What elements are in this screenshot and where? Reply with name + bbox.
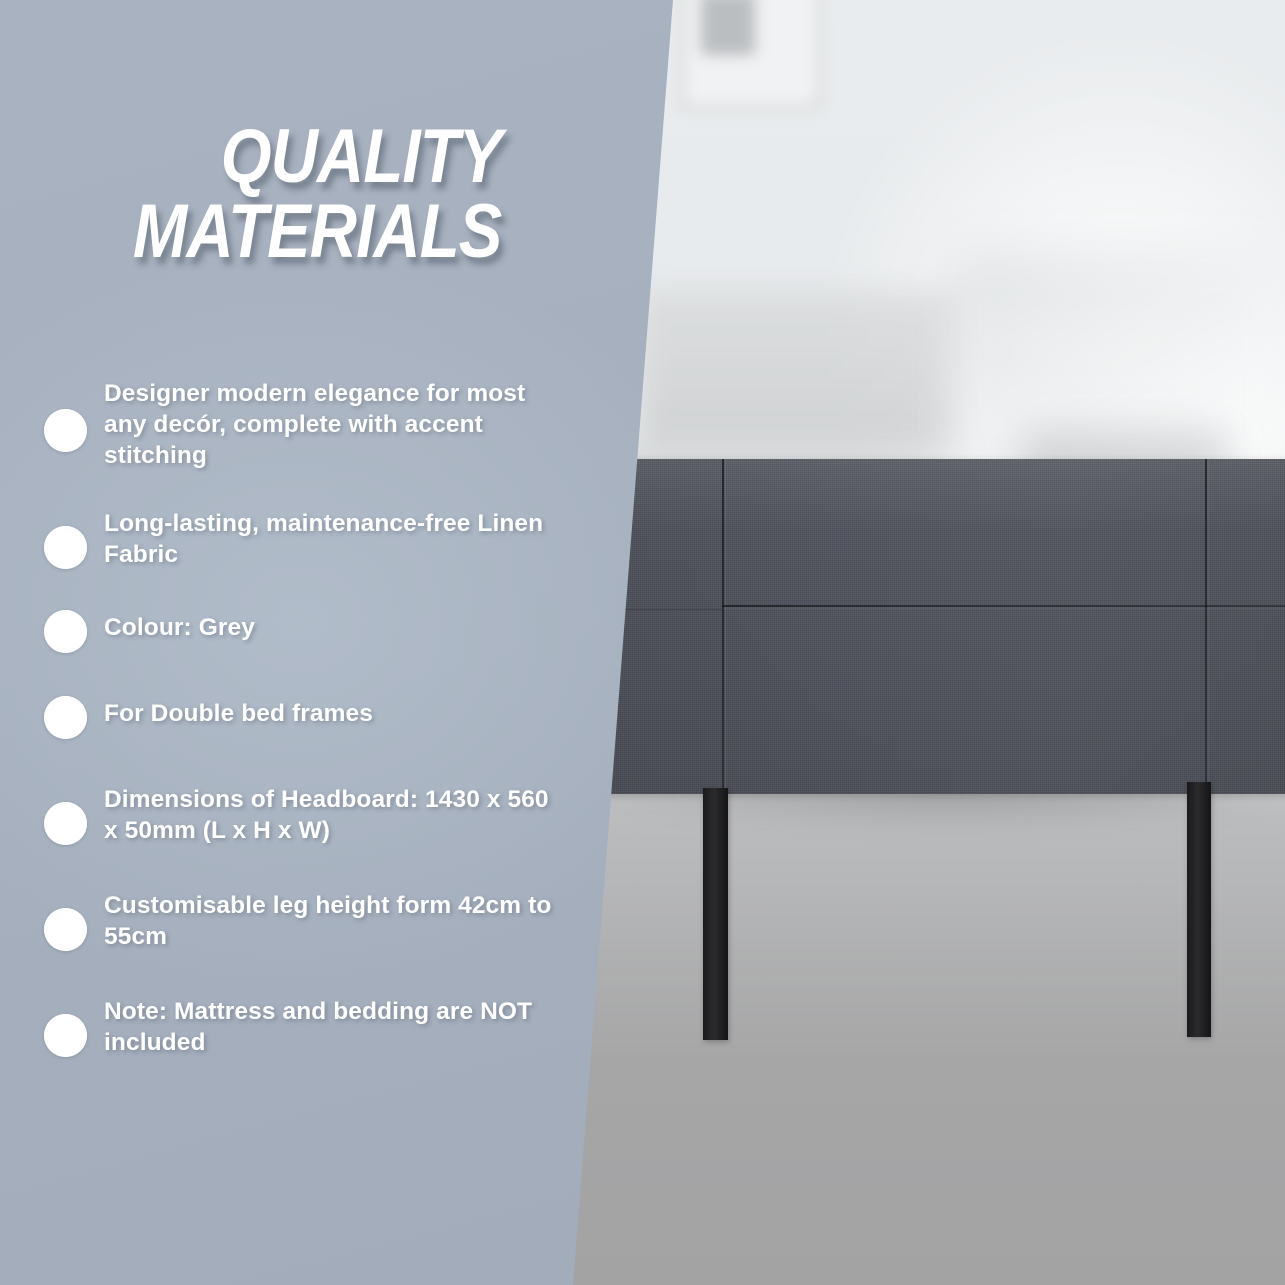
accent-stitch-vertical-2-highlight [1208,459,1209,794]
accent-stitch-vertical-2 [1205,459,1207,794]
list-item: Designer modern elegance for most any de… [44,378,554,482]
list-item: For Double bed frames [44,698,554,740]
accent-stitch-vertical-1 [722,459,724,794]
accent-stitch-horizontal [722,605,1285,607]
check-circle-icon [44,1014,87,1057]
list-item-label: Long-lasting, maintenance-free Linen Fab… [104,508,554,571]
background-console [640,290,970,450]
page-title: QUALITY MATERIALS [78,119,560,269]
list-item: Customisable leg height form 42cm to 55c… [44,890,554,968]
wall-picture-frame [678,0,824,112]
headboard-leg-left [703,788,728,1040]
title-line-1: QUALITY [221,114,502,199]
title-line-2: MATERIALS [78,194,501,269]
list-item-label: Note: Mattress and bedding are NOT inclu… [104,996,554,1059]
feature-list: Designer modern elegance for most any de… [44,378,554,1100]
list-item-label: For Double bed frames [104,698,373,730]
accent-stitch-horizontal-highlight [722,608,1285,609]
check-circle-icon [44,696,87,739]
check-circle-icon [44,908,87,951]
list-item: Colour: Grey [44,612,554,654]
headboard [533,459,1285,794]
list-item: Long-lasting, maintenance-free Linen Fab… [44,508,554,586]
headboard-lighting [533,459,1285,794]
check-circle-icon [44,526,87,569]
list-item-label: Customisable leg height form 42cm to 55c… [104,890,554,953]
accent-stitch-vertical-1-highlight [725,459,726,794]
check-circle-icon [44,802,87,845]
list-item-label: Dimensions of Headboard: 1430 x 560 x 50… [104,784,554,847]
list-item-label: Colour: Grey [104,612,255,644]
check-circle-icon [44,610,87,653]
list-item-label: Designer modern elegance for most any de… [104,378,554,472]
check-circle-icon [44,409,87,452]
list-item: Note: Mattress and bedding are NOT inclu… [44,996,554,1074]
headboard-leg-right [1187,782,1211,1037]
promo-banner: QUALITY MATERIALS Designer modern elegan… [0,0,1285,1285]
list-item: Dimensions of Headboard: 1430 x 560 x 50… [44,784,554,862]
